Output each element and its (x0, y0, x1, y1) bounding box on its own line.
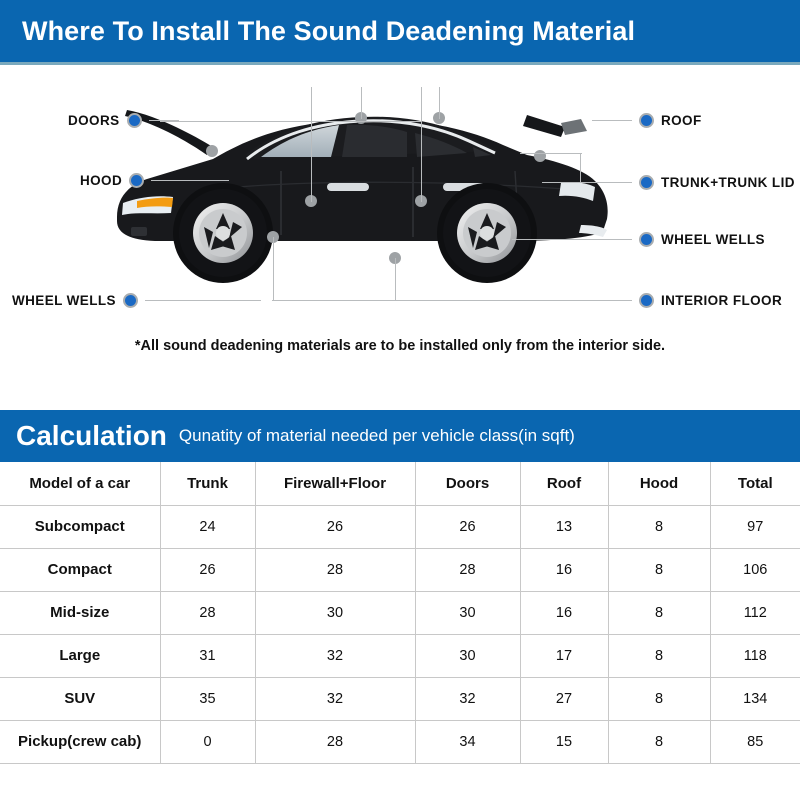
leader-line-wheelwell (273, 237, 274, 301)
cell-trunk: 28 (160, 591, 255, 634)
table-row: Pickup(crew cab) 0 28 34 15 8 85 (0, 720, 800, 763)
cell-firewall-floor: 28 (255, 548, 415, 591)
cell-model: Large (0, 634, 160, 677)
page-root: Where To Install The Sound Deadening Mat… (0, 0, 800, 800)
cell-firewall-floor: 28 (255, 720, 415, 763)
cell-total: 112 (710, 591, 800, 634)
col-header-model: Model of a car (0, 462, 160, 505)
cell-roof: 16 (520, 548, 608, 591)
leader-line-doors-rear (421, 87, 422, 202)
marker-dot-icon (639, 113, 654, 128)
col-header-trunk: Trunk (160, 462, 255, 505)
leader-line (145, 300, 261, 301)
cell-doors: 32 (415, 677, 520, 720)
cell-doors: 30 (415, 591, 520, 634)
col-header-doors: Doors (415, 462, 520, 505)
anchor-trunk (534, 150, 546, 162)
cell-doors: 34 (415, 720, 520, 763)
leader-line-trunk-bracket (580, 153, 581, 183)
cell-trunk: 31 (160, 634, 255, 677)
cell-trunk: 35 (160, 677, 255, 720)
leader-line (512, 239, 632, 240)
cell-firewall-floor: 26 (255, 505, 415, 548)
cell-hood: 8 (608, 505, 710, 548)
callout-roof[interactable]: ROOF (592, 113, 702, 128)
callout-interior-floor[interactable]: INTERIOR FLOOR (272, 293, 782, 308)
callout-hood[interactable]: HOOD (80, 173, 229, 188)
cell-total: 134 (710, 677, 800, 720)
leader-line (151, 180, 229, 181)
marker-dot-icon (639, 175, 654, 190)
callout-wheel-wells-left[interactable]: WHEEL WELLS (12, 293, 261, 308)
marker-dot-icon (127, 113, 142, 128)
cell-doors: 28 (415, 548, 520, 591)
cell-roof: 13 (520, 505, 608, 548)
callout-doors[interactable]: DOORS (68, 113, 179, 128)
cell-firewall-floor: 32 (255, 634, 415, 677)
table-row: SUV 35 32 32 27 8 134 (0, 677, 800, 720)
cell-trunk: 0 (160, 720, 255, 763)
marker-dot-icon (129, 173, 144, 188)
callout-label-roof: ROOF (661, 113, 702, 128)
cell-trunk: 26 (160, 548, 255, 591)
callout-label-trunk: TRUNK+TRUNK LID (661, 175, 795, 190)
cell-firewall-floor: 30 (255, 591, 415, 634)
leader-line (272, 300, 632, 301)
cell-model: SUV (0, 677, 160, 720)
callout-label-interior-floor: INTERIOR FLOOR (661, 293, 782, 308)
leader-line-doors-front (311, 87, 312, 202)
cell-model: Subcompact (0, 505, 160, 548)
cell-doors: 30 (415, 634, 520, 677)
calculation-subtitle: Qunatity of material needed per vehicle … (179, 426, 575, 446)
cell-total: 97 (710, 505, 800, 548)
col-header-hood: Hood (608, 462, 710, 505)
callout-label-wheel-wells: WHEEL WELLS (661, 232, 765, 247)
leader-line-roof-front (361, 87, 362, 119)
leader-line (149, 120, 179, 121)
cell-model: Compact (0, 548, 160, 591)
cell-hood: 8 (608, 677, 710, 720)
leader-line-roof-rear (439, 87, 440, 119)
calculation-title: Calculation (16, 420, 167, 452)
table-row: Large 31 32 30 17 8 118 (0, 634, 800, 677)
col-header-firewall-floor: Firewall+Floor (255, 462, 415, 505)
callout-wheel-wells-right[interactable]: WHEEL WELLS (512, 232, 765, 247)
page-title: Where To Install The Sound Deadening Mat… (22, 16, 635, 47)
col-header-total: Total (710, 462, 800, 505)
cell-hood: 8 (608, 634, 710, 677)
cell-model: Mid-size (0, 591, 160, 634)
cell-firewall-floor: 32 (255, 677, 415, 720)
cell-roof: 27 (520, 677, 608, 720)
material-quantity-table: Model of a car Trunk Firewall+Floor Door… (0, 462, 800, 764)
calculation-banner: Calculation Qunatity of material needed … (0, 410, 800, 462)
anchor-hood (206, 145, 218, 157)
cell-roof: 17 (520, 634, 608, 677)
table-row: Subcompact 24 26 26 13 8 97 (0, 505, 800, 548)
leader-line (542, 182, 632, 183)
callout-label-wheel-wells: WHEEL WELLS (12, 293, 116, 308)
cell-model: Pickup(crew cab) (0, 720, 160, 763)
cell-hood: 8 (608, 720, 710, 763)
cell-doors: 26 (415, 505, 520, 548)
table-header-row: Model of a car Trunk Firewall+Floor Door… (0, 462, 800, 505)
cell-total: 106 (710, 548, 800, 591)
installation-note: *All sound deadening materials are to be… (0, 338, 800, 354)
marker-dot-icon (639, 293, 654, 308)
cell-trunk: 24 (160, 505, 255, 548)
cell-roof: 15 (520, 720, 608, 763)
col-header-roof: Roof (520, 462, 608, 505)
leader-line-trunk-top (520, 153, 582, 154)
cell-hood: 8 (608, 591, 710, 634)
cell-hood: 8 (608, 548, 710, 591)
callout-label-hood: HOOD (80, 173, 122, 188)
page-header-banner: Where To Install The Sound Deadening Mat… (0, 0, 800, 62)
cell-total: 85 (710, 720, 800, 763)
table-row: Compact 26 28 28 16 8 106 (0, 548, 800, 591)
leader-line (592, 120, 632, 121)
marker-dot-icon (639, 232, 654, 247)
table-row: Mid-size 28 30 30 16 8 112 (0, 591, 800, 634)
marker-dot-icon (123, 293, 138, 308)
callout-label-doors: DOORS (68, 113, 120, 128)
cell-total: 118 (710, 634, 800, 677)
leader-line-doors-top (160, 121, 422, 122)
cell-roof: 16 (520, 591, 608, 634)
